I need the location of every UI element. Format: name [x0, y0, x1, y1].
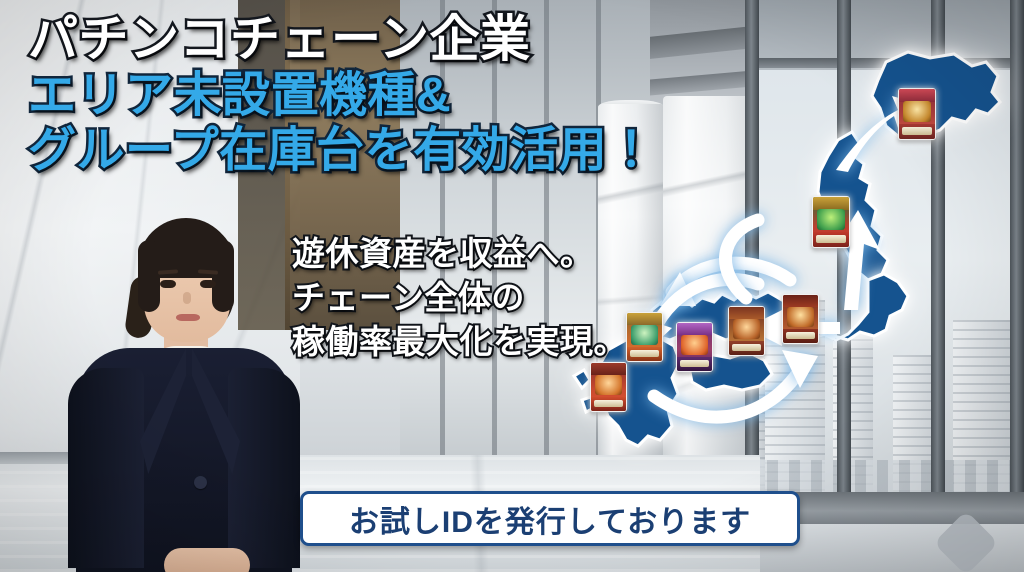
hair-side	[212, 240, 234, 312]
businesswoman-photo	[52, 218, 312, 572]
machine-kyushu	[590, 362, 627, 412]
eye	[160, 280, 176, 288]
machine-tray	[594, 400, 623, 408]
headline-line-1: パチンコチェーン企業	[28, 12, 708, 66]
machine-header	[729, 307, 764, 319]
machine-tray	[732, 344, 761, 352]
map-region-hokkaido	[872, 52, 1000, 136]
machine-header	[591, 363, 626, 375]
subtext-line-2: チェーン全体の	[292, 276, 627, 320]
headline-line-2: エリア未設置機種&	[28, 70, 708, 123]
machine-chubu	[728, 306, 765, 356]
jacket-button	[194, 476, 207, 489]
machine-screen	[817, 209, 844, 230]
trial-id-cta-button[interactable]: お試しIDを発行しております	[300, 491, 800, 546]
subtext-block: 遊休資産を収益へ。 チェーン全体の 稼働率最大化を実現。	[292, 232, 627, 365]
machine-header	[677, 323, 712, 335]
machine-kansai	[676, 322, 713, 372]
machine-chugoku	[626, 312, 663, 362]
nose	[183, 292, 191, 304]
machine-tray	[680, 360, 709, 368]
machine-screen	[903, 101, 930, 122]
map-island	[574, 370, 590, 388]
machine-screen	[681, 335, 708, 355]
machine-screen	[733, 319, 760, 339]
banner-root: パチンコチェーン企業 エリア未設置機種& グループ在庫台を有効活用！ 遊休資産を…	[0, 0, 1024, 572]
headline-line-3: グループ在庫台を有効活用！	[28, 125, 708, 178]
machine-header	[783, 295, 818, 307]
machine-screen	[787, 307, 814, 327]
machine-screen	[595, 375, 622, 395]
hair-side	[138, 240, 160, 312]
machine-tray	[902, 127, 932, 135]
machine-kanto	[782, 294, 819, 344]
subtext-line-1: 遊休資産を収益へ。	[292, 232, 627, 276]
machine-screen	[631, 325, 658, 345]
machine-tray	[630, 350, 659, 358]
machine-tray	[786, 332, 815, 340]
mouth	[176, 314, 200, 321]
machine-header	[627, 313, 662, 325]
hands	[164, 548, 250, 572]
subtext-line-3: 稼働率最大化を実現。	[292, 320, 627, 364]
eye	[200, 280, 216, 288]
jacket-shoulder	[68, 368, 144, 568]
jacket-shoulder	[228, 368, 300, 568]
cta-label: お試しIDを発行しております	[349, 497, 751, 541]
machine-tohoku	[812, 196, 850, 248]
machine-tray	[816, 235, 846, 243]
headline-block: パチンコチェーン企業 エリア未設置機種& グループ在庫台を有効活用！	[28, 12, 708, 178]
machine-hokkaido	[898, 88, 936, 140]
